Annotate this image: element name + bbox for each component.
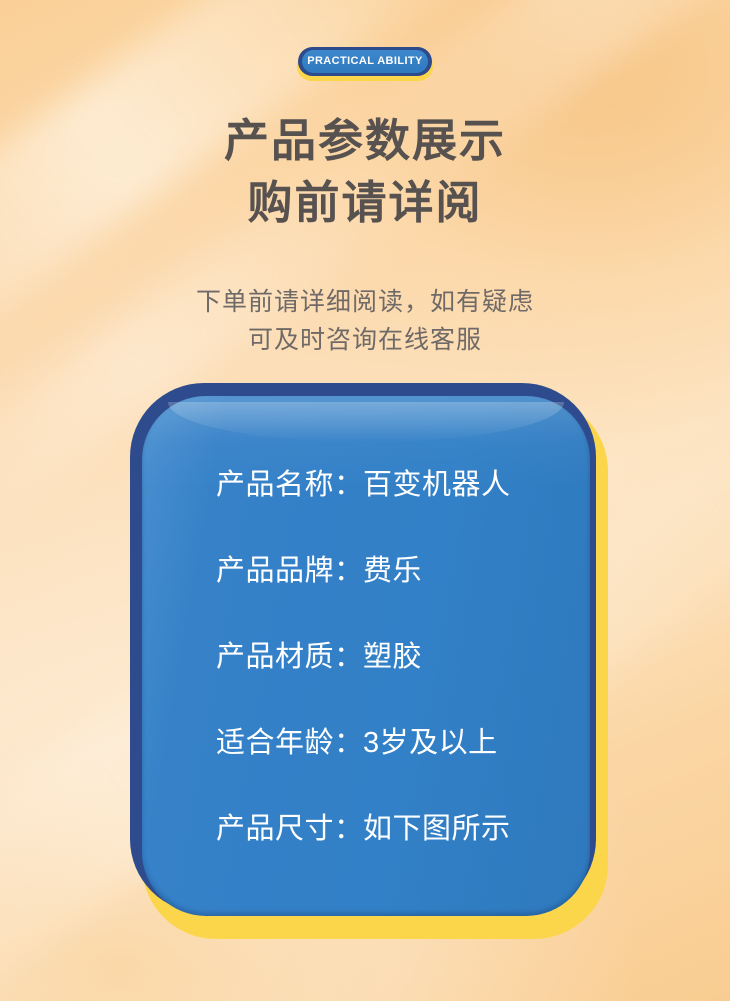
- spec-row: 产品品牌 ： 费乐: [216, 554, 566, 640]
- spec-label: 产品尺寸: [216, 812, 334, 846]
- spec-label: 产品品牌: [216, 554, 334, 588]
- spec-value: 如下图所示: [363, 812, 511, 846]
- practical-ability-badge: PRACTICAL ABILITY: [297, 47, 433, 77]
- spec-separator: ：: [334, 726, 363, 760]
- page-title-line-2: 购前请详阅: [0, 172, 730, 234]
- spec-value: 费乐: [363, 554, 422, 588]
- spec-value: 3岁及以上: [363, 726, 498, 760]
- spec-separator: ：: [334, 640, 363, 674]
- spec-card: 产品名称 ： 百变机器人 产品品牌 ： 费乐 产品材质 ： 塑胶 适合年龄 ：: [130, 383, 608, 939]
- spec-row: 产品材质 ： 塑胶: [216, 640, 566, 726]
- card-blue-body: 产品名称 ： 百变机器人 产品品牌 ： 费乐 产品材质 ： 塑胶 适合年龄 ：: [142, 396, 590, 916]
- badge-container: PRACTICAL ABILITY: [0, 47, 730, 77]
- spec-separator: ：: [334, 554, 363, 588]
- spec-label: 产品材质: [216, 640, 334, 674]
- spec-row: 产品尺寸 ： 如下图所示: [216, 812, 566, 898]
- page-subtitle-line-1: 下单前请详细阅读，如有疑虑: [0, 283, 730, 321]
- page-title: 产品参数展示 购前请详阅: [0, 110, 730, 234]
- spec-separator: ：: [334, 468, 363, 502]
- spec-row: 产品名称 ： 百变机器人: [216, 468, 566, 554]
- badge-blue-fill: PRACTICAL ABILITY: [302, 50, 428, 73]
- spec-list: 产品名称 ： 百变机器人 产品品牌 ： 费乐 产品材质 ： 塑胶 适合年龄 ：: [216, 468, 566, 898]
- spec-value: 百变机器人: [363, 468, 511, 502]
- badge-label: PRACTICAL ABILITY: [307, 56, 423, 67]
- page-subtitle-line-2: 可及时咨询在线客服: [0, 321, 730, 359]
- page-title-line-1: 产品参数展示: [0, 110, 730, 172]
- page-subtitle: 下单前请详细阅读，如有疑虑 可及时咨询在线客服: [0, 283, 730, 359]
- card-top-gloss: [168, 402, 564, 442]
- spec-separator: ：: [334, 812, 363, 846]
- product-spec-poster: PRACTICAL ABILITY 产品参数展示 购前请详阅 下单前请详细阅读，…: [0, 0, 730, 1001]
- spec-label: 适合年龄: [216, 726, 334, 760]
- spec-row: 适合年龄 ： 3岁及以上: [216, 726, 566, 812]
- spec-value: 塑胶: [363, 640, 422, 674]
- spec-label: 产品名称: [216, 468, 334, 502]
